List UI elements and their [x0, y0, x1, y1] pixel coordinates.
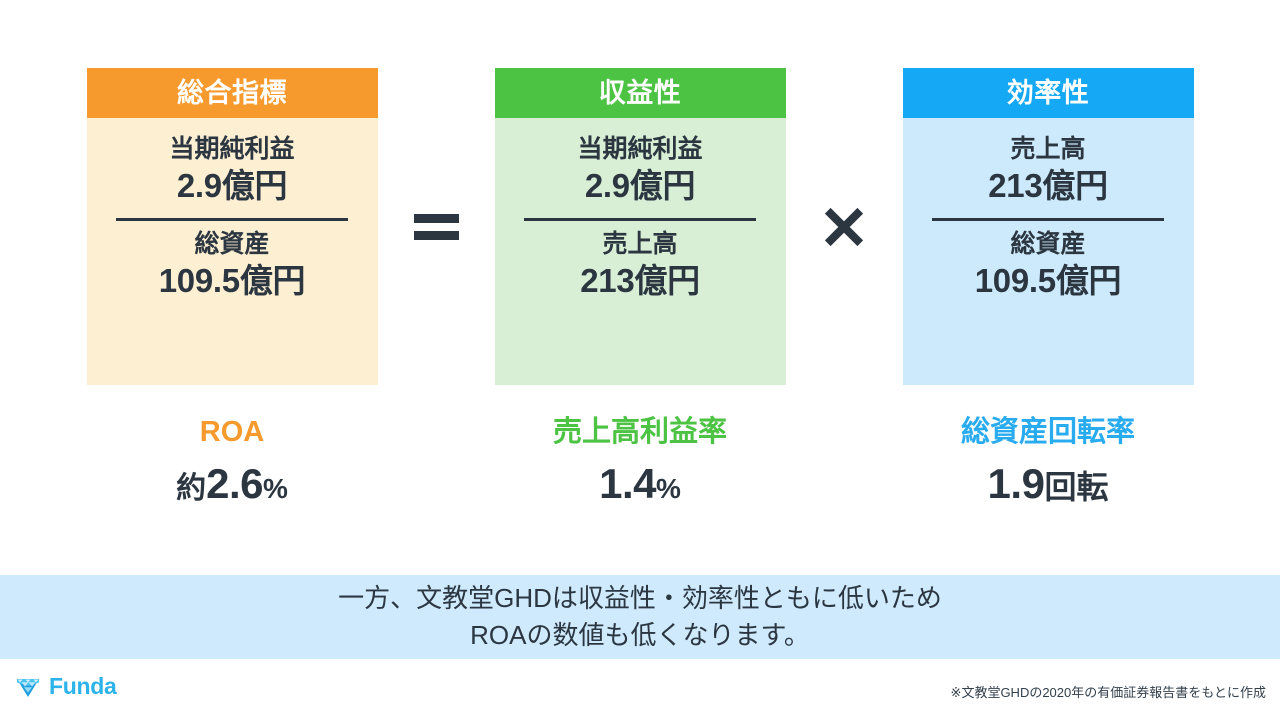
metric-number-profit-margin: 1.4 — [599, 460, 656, 507]
metric-card-overall: 総合指標 当期純利益 2.9億円 総資産 109.5億円 — [87, 68, 378, 385]
metric-result-profitability: 売上高利益率 1.4% — [495, 415, 786, 507]
metric-card-efficiency: 効率性 売上高 213億円 総資産 109.5億円 — [903, 68, 1194, 385]
numerator-value-profitability: 2.9億円 — [585, 165, 695, 206]
fraction-bar-efficiency — [932, 218, 1164, 221]
numerator-value-efficiency: 213億円 — [988, 165, 1108, 206]
funda-logo-text: Funda — [49, 673, 117, 700]
times-icon — [821, 204, 867, 250]
metric-name-roa: ROA — [87, 415, 378, 450]
card-header-efficiency: 効率性 — [903, 68, 1194, 118]
metric-number-roa: 2.6 — [206, 460, 263, 507]
denominator-value-efficiency: 109.5億円 — [975, 260, 1121, 301]
page-footer: Funda ※文教堂GHDの2020年の有価証券報告書をもとに作成 — [0, 659, 1280, 720]
equals-icon — [414, 214, 459, 240]
funda-logo: Funda — [14, 672, 117, 700]
card-body-profitability: 当期純利益 2.9億円 売上高 213億円 — [495, 118, 786, 385]
card-header-overall: 総合指標 — [87, 68, 378, 118]
formula-column-efficiency: 効率性 売上高 213億円 総資産 109.5億円 総資産回転率 1.9回転 — [903, 68, 1194, 507]
metric-name-profit-margin: 売上高利益率 — [495, 415, 786, 450]
denominator-label-efficiency: 総資産 — [1010, 229, 1085, 260]
metric-prefix-roa: 約 — [176, 472, 206, 505]
numerator-label-overall: 当期純利益 — [169, 134, 294, 165]
operator-times — [786, 68, 903, 385]
operator-equals — [378, 68, 495, 385]
formula-column-profitability: 収益性 当期純利益 2.9億円 売上高 213億円 売上高利益率 1.4% — [495, 68, 786, 507]
card-header-profitability: 収益性 — [495, 68, 786, 118]
metric-name-asset-turnover: 総資産回転率 — [903, 415, 1194, 450]
numerator-value-overall: 2.9億円 — [177, 165, 287, 206]
roa-formula-row: 総合指標 当期純利益 2.9億円 総資産 109.5億円 ROA 約2.6% 収… — [0, 68, 1280, 518]
summary-banner-line-1: 一方、文教堂GHDは収益性・効率性ともに低いため — [338, 580, 942, 617]
metric-unit-asset-turnover: 回転 — [1044, 469, 1108, 505]
numerator-label-efficiency: 売上高 — [1010, 134, 1085, 165]
metric-value-roa: 約2.6% — [87, 461, 378, 507]
fraction-bar-profitability — [524, 218, 756, 221]
metric-value-asset-turnover: 1.9回転 — [903, 461, 1194, 507]
metric-result-efficiency: 総資産回転率 1.9回転 — [903, 415, 1194, 507]
denominator-label-profitability: 売上高 — [602, 229, 677, 260]
fraction-bar-overall — [116, 218, 348, 221]
metric-value-profit-margin: 1.4% — [495, 461, 786, 507]
card-body-overall: 当期純利益 2.9億円 総資産 109.5億円 — [87, 118, 378, 385]
denominator-value-profitability: 213億円 — [580, 260, 700, 301]
formula-column-overall: 総合指標 当期純利益 2.9億円 総資産 109.5億円 ROA 約2.6% — [87, 68, 378, 507]
denominator-label-overall: 総資産 — [194, 229, 269, 260]
metric-unit-roa: % — [263, 473, 288, 504]
gem-icon — [14, 672, 42, 700]
metric-unit-profit-margin: % — [656, 473, 681, 504]
summary-banner-line-2: ROAの数値も低くなります。 — [470, 617, 810, 654]
metric-number-asset-turnover: 1.9 — [988, 460, 1045, 507]
numerator-label-profitability: 当期純利益 — [577, 134, 702, 165]
source-credit: ※文教堂GHDの2020年の有価証券報告書をもとに作成 — [951, 682, 1266, 701]
metric-card-profitability: 収益性 当期純利益 2.9億円 売上高 213億円 — [495, 68, 786, 385]
card-body-efficiency: 売上高 213億円 総資産 109.5億円 — [903, 118, 1194, 385]
denominator-value-overall: 109.5億円 — [159, 260, 305, 301]
summary-banner: 一方、文教堂GHDは収益性・効率性ともに低いため ROAの数値も低くなります。 — [0, 575, 1280, 659]
metric-result-overall: ROA 約2.6% — [87, 415, 378, 507]
